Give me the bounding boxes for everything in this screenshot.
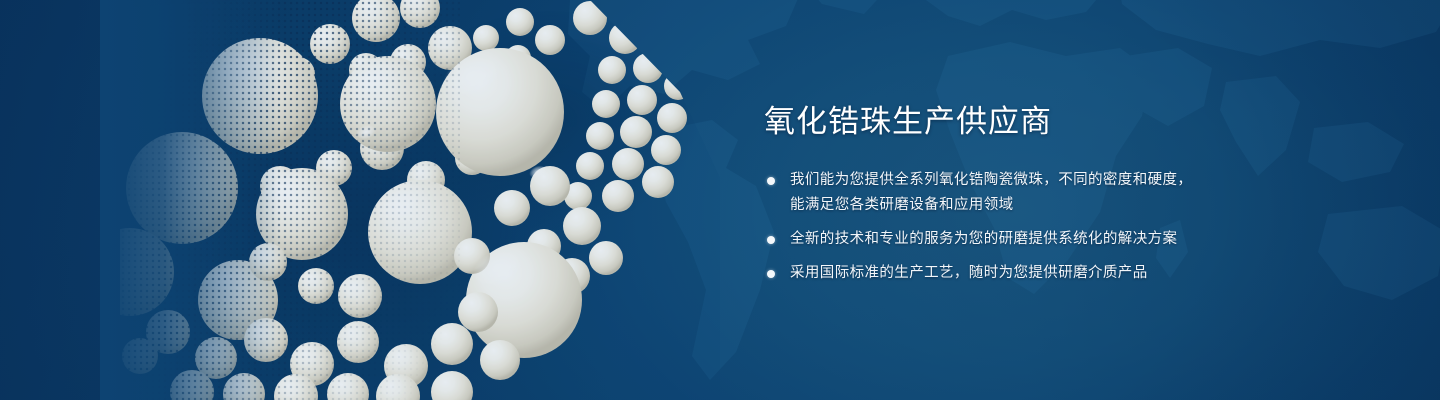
feature-bullet-list: 我们能为您提供全系列氧化锆陶瓷微珠，不同的密度和硬度， 能满足您各类研磨设备和应… — [764, 168, 1284, 286]
bullet-text-line: 采用国际标准的生产工艺，随时为您提供研磨介质产品 — [790, 261, 1284, 286]
product-hero-banner: 氧化锆珠生产供应商 我们能为您提供全系列氧化锆陶瓷微珠，不同的密度和硬度， 能满… — [0, 0, 1440, 400]
page-title: 氧化锆珠生产供应商 — [764, 104, 1284, 140]
bullet-text-line: 能满足您各类研磨设备和应用领域 — [790, 193, 1284, 218]
bullet-text-line: 全新的技术和专业的服务为您的研磨提供系统化的解决方案 — [790, 227, 1284, 252]
bullet-text-line: 我们能为您提供全系列氧化锆陶瓷微珠，不同的密度和硬度， — [790, 168, 1284, 193]
list-item: 采用国际标准的生产工艺，随时为您提供研磨介质产品 — [764, 261, 1284, 286]
bullet-dot-icon — [767, 236, 775, 244]
list-item: 我们能为您提供全系列氧化锆陶瓷微珠，不同的密度和硬度， 能满足您各类研磨设备和应… — [764, 168, 1284, 218]
bullet-dot-icon — [767, 270, 775, 278]
list-item: 全新的技术和专业的服务为您的研磨提供系统化的解决方案 — [764, 227, 1284, 252]
zirconia-beads-photo — [120, 0, 720, 400]
bullet-dot-icon — [767, 177, 775, 185]
banner-copy: 氧化锆珠生产供应商 我们能为您提供全系列氧化锆陶瓷微珠，不同的密度和硬度， 能满… — [764, 104, 1284, 286]
